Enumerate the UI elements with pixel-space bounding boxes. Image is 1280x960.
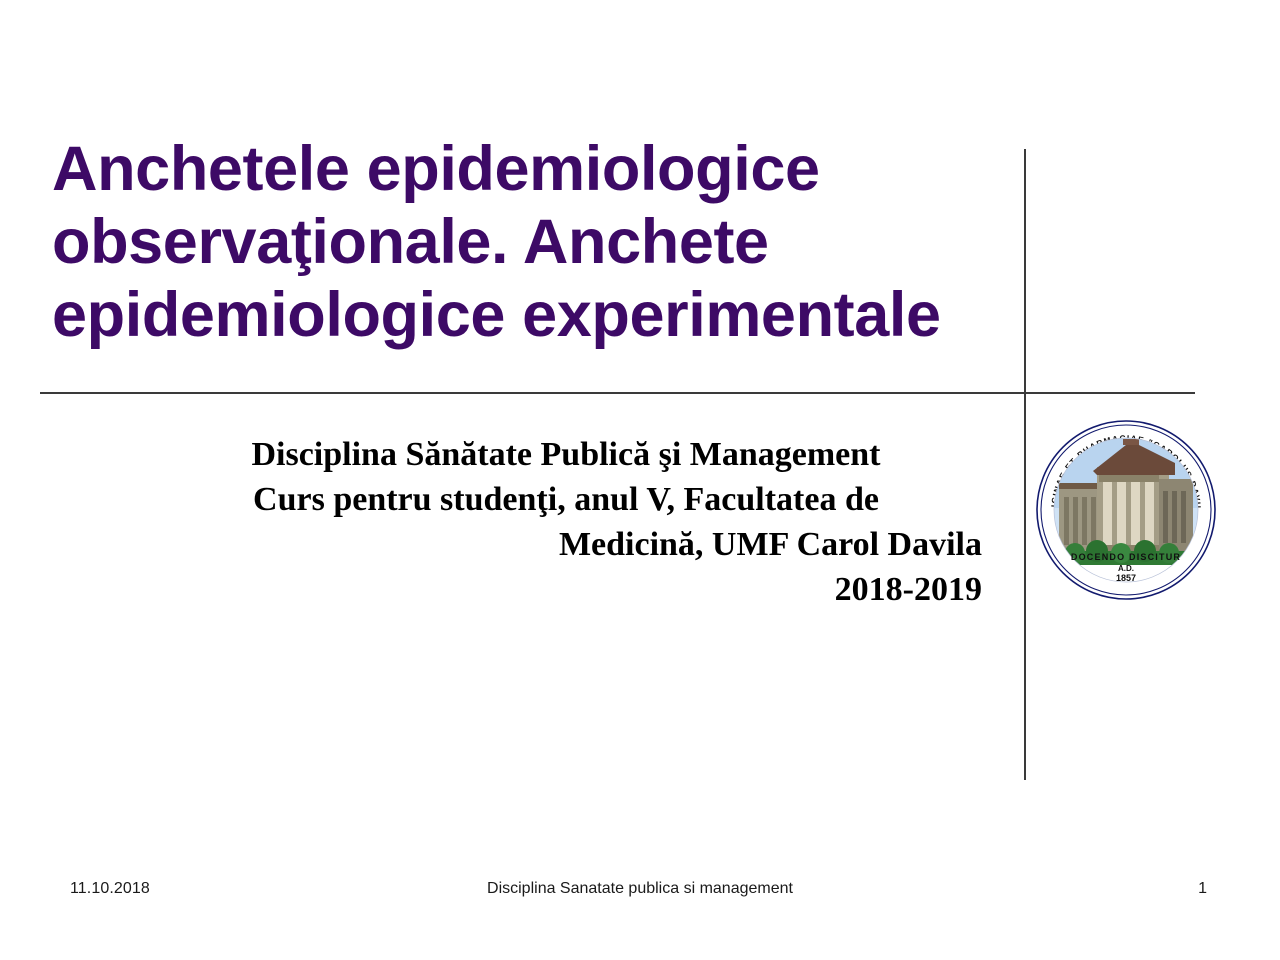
slide-canvas: Anchetele epidemiologice observaţionale.… — [0, 0, 1280, 960]
footer-center-text: Disciplina Sanatate publica si managemen… — [0, 880, 1280, 898]
seal-year: 1857 — [1116, 573, 1136, 583]
title-line-1: Anchetele epidemiologice — [52, 133, 982, 206]
vertical-divider — [1024, 149, 1026, 780]
title-line-2: observaţionale. Anchete — [52, 206, 982, 279]
slide-title: Anchetele epidemiologice observaţionale.… — [52, 133, 982, 352]
subtitle-line-academic-year: 2018-2019 — [150, 567, 982, 612]
seal-motto: DOCENDO DISCITUR — [1071, 552, 1181, 562]
university-logo: UNIVERSITAS MEDICINAE ET PHARMACIAE "CAR… — [1035, 401, 1217, 619]
seal-ad-label: A.D. — [1118, 564, 1134, 573]
footer-page-number: 1 — [1198, 880, 1207, 898]
title-line-3: epidemiologice experimentale — [52, 279, 982, 352]
slide-footer: 11.10.2018 Disciplina Sanatate publica s… — [0, 880, 1280, 908]
horizontal-divider — [40, 392, 1195, 394]
subtitle-line-faculty: Medicină, UMF Carol Davila — [150, 522, 982, 567]
subtitle-line-course: Curs pentru studenţi, anul V, Facultatea… — [150, 477, 982, 522]
subtitle-line-department: Disciplina Sănătate Publică şi Managemen… — [150, 432, 982, 477]
slide-subtitle: Disciplina Sănătate Publică şi Managemen… — [150, 432, 982, 612]
